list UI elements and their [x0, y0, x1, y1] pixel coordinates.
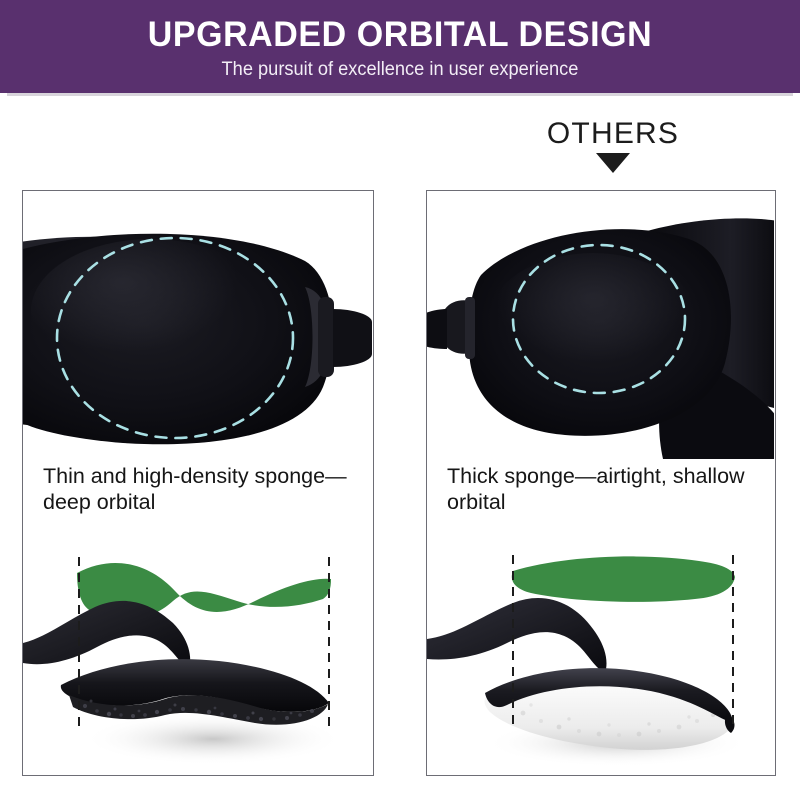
upgraded-caption: Thin and high-density sponge—deep orbita… — [43, 463, 358, 515]
right-edge-margin — [793, 93, 800, 800]
page-title: UPGRADED ORBITAL DESIGN — [12, 15, 788, 55]
left-edge-margin — [0, 93, 7, 800]
others-label: OTHERS — [543, 117, 683, 151]
header-banner: UPGRADED ORBITAL DESIGN The pursuit of e… — [0, 0, 800, 93]
upgraded-mask-profile-illustration — [23, 543, 372, 775]
upgraded-mask-front-illustration — [23, 191, 372, 459]
others-product-panel: Thick sponge—airtight, shallow orbital — [426, 190, 776, 776]
page-subtitle: The pursuit of excellence in user experi… — [16, 58, 784, 82]
upgraded-mask-profile-photo — [23, 543, 373, 775]
others-mask-front-illustration — [427, 191, 774, 459]
others-caption: Thick sponge—airtight, shallow orbital — [447, 463, 762, 515]
others-mask-profile-illustration — [427, 543, 774, 775]
header-divider — [0, 93, 800, 96]
upgraded-mask-front-photo — [23, 191, 373, 459]
triangle-down-icon — [596, 153, 630, 173]
others-mask-front-photo — [427, 191, 775, 459]
others-marker: OTHERS — [543, 117, 683, 173]
upgraded-product-panel: Thin and high-density sponge—deep orbita… — [22, 190, 374, 776]
others-mask-profile-photo — [427, 543, 775, 775]
